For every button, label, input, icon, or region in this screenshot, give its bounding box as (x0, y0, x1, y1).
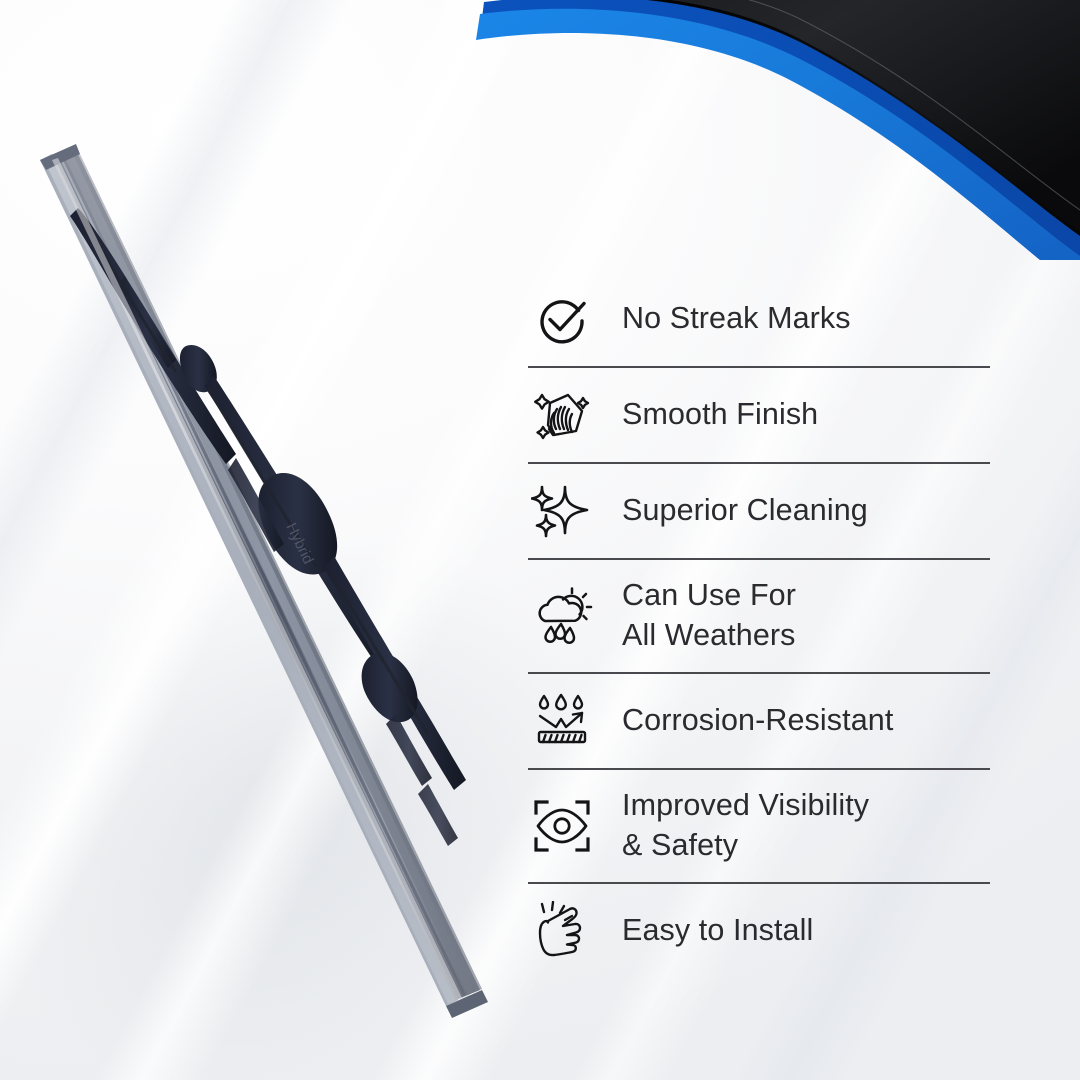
feature-row: Superior Cleaning (528, 464, 990, 560)
feature-label: No Streak Marks (622, 299, 851, 339)
feature-row: Easy to Install (528, 884, 990, 978)
sparkles-icon (528, 477, 596, 545)
feature-label: Improved Visibility & Safety (622, 786, 869, 865)
feature-label: Can Use For All Weathers (622, 576, 796, 655)
check-circle-icon (528, 285, 596, 353)
eye-focus-icon (528, 792, 596, 860)
feature-label: Corrosion-Resistant (622, 701, 893, 741)
wiping-cloth-icon (528, 381, 596, 449)
tap-hand-icon (528, 897, 596, 965)
feature-row: Can Use For All Weathers (528, 560, 990, 674)
feature-label: Superior Cleaning (622, 491, 868, 531)
feature-row: Corrosion-Resistant (528, 674, 990, 770)
feature-row: Improved Visibility & Safety (528, 770, 990, 884)
product-infographic: Hybrid No Streak Marks (0, 0, 1080, 1080)
rain-cloud-sun-icon (528, 582, 596, 650)
water-repellent-icon (528, 687, 596, 755)
feature-label: Smooth Finish (622, 395, 818, 435)
feature-label: Easy to Install (622, 911, 813, 951)
feature-list: No Streak Marks Smooth Fi (528, 272, 990, 978)
feature-row: Smooth Finish (528, 368, 990, 464)
feature-row: No Streak Marks (528, 272, 990, 368)
